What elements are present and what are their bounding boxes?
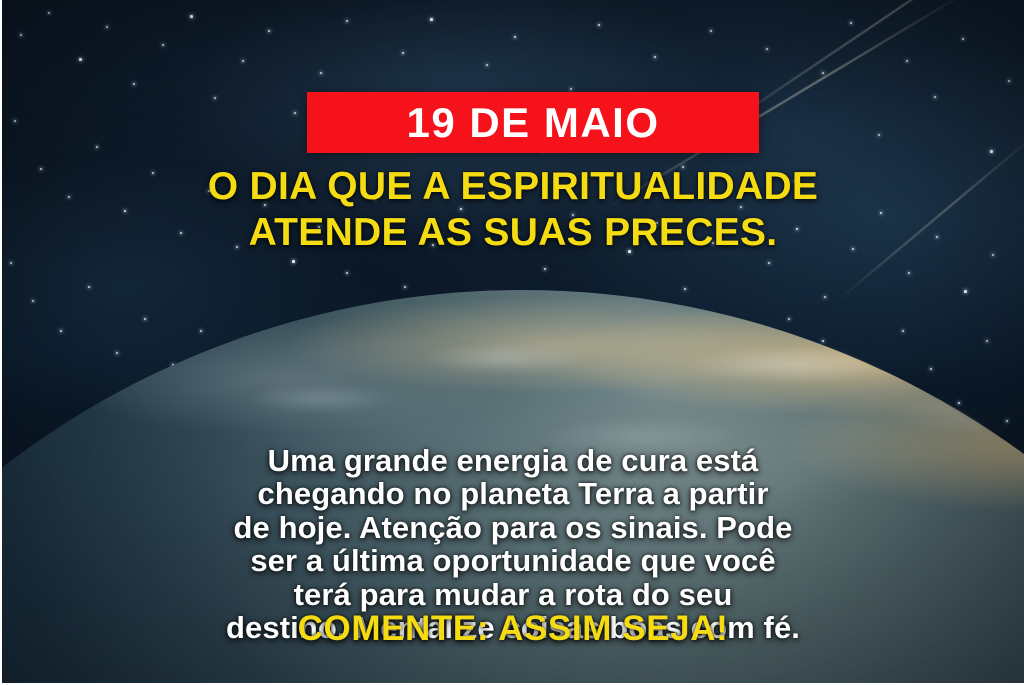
- headline-line-2: ATENDE AS SUAS PRECES.: [2, 210, 1024, 256]
- poster-canvas: 19 DE MAIO O DIA QUE A ESPIRITUALIDADE A…: [0, 0, 1024, 685]
- body-line-3: de hoje. Atenção para os sinais. Pode: [2, 511, 1024, 544]
- headline-line-1: O DIA QUE A ESPIRITUALIDADE: [2, 164, 1024, 210]
- poster-content: 19 DE MAIO O DIA QUE A ESPIRITUALIDADE A…: [2, 0, 1024, 683]
- call-to-action-label: COMENTE: ASSIM SEJA!: [298, 609, 729, 648]
- body-line-5: terá para mudar a rota do seu: [2, 578, 1024, 611]
- headline: O DIA QUE A ESPIRITUALIDADE ATENDE AS SU…: [2, 164, 1024, 256]
- body-line-1: Uma grande energia de cura está: [2, 444, 1024, 477]
- date-badge: 19 DE MAIO: [307, 92, 759, 153]
- body-line-4: ser a última oportunidade que você: [2, 544, 1024, 577]
- date-badge-label: 19 DE MAIO: [406, 102, 659, 144]
- body-line-2: chegando no planeta Terra a partir: [2, 477, 1024, 510]
- call-to-action: COMENTE: ASSIM SEJA!: [2, 611, 1024, 646]
